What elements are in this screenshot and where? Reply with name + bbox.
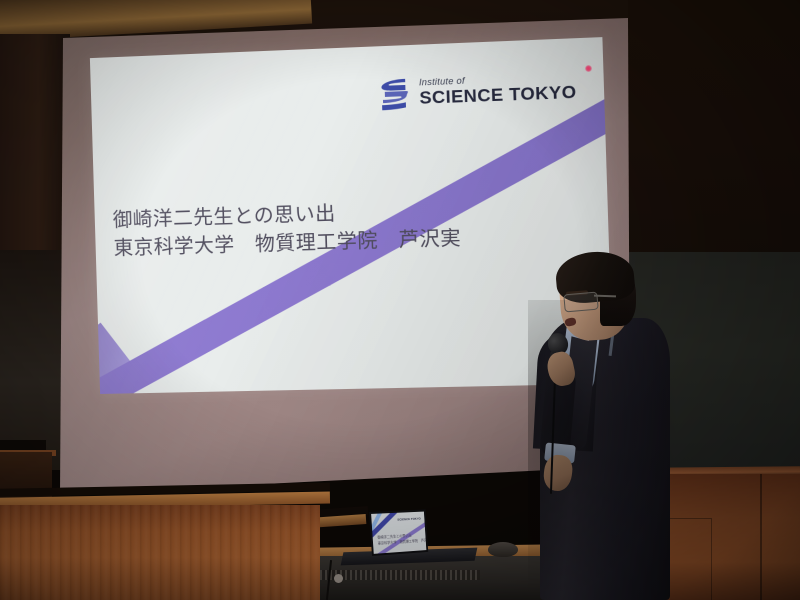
- presenter: [0, 0, 800, 600]
- lecture-hall-photo: Institute of SCIENCE TOKYO 御崎洋二先生との思い出 東…: [0, 0, 800, 600]
